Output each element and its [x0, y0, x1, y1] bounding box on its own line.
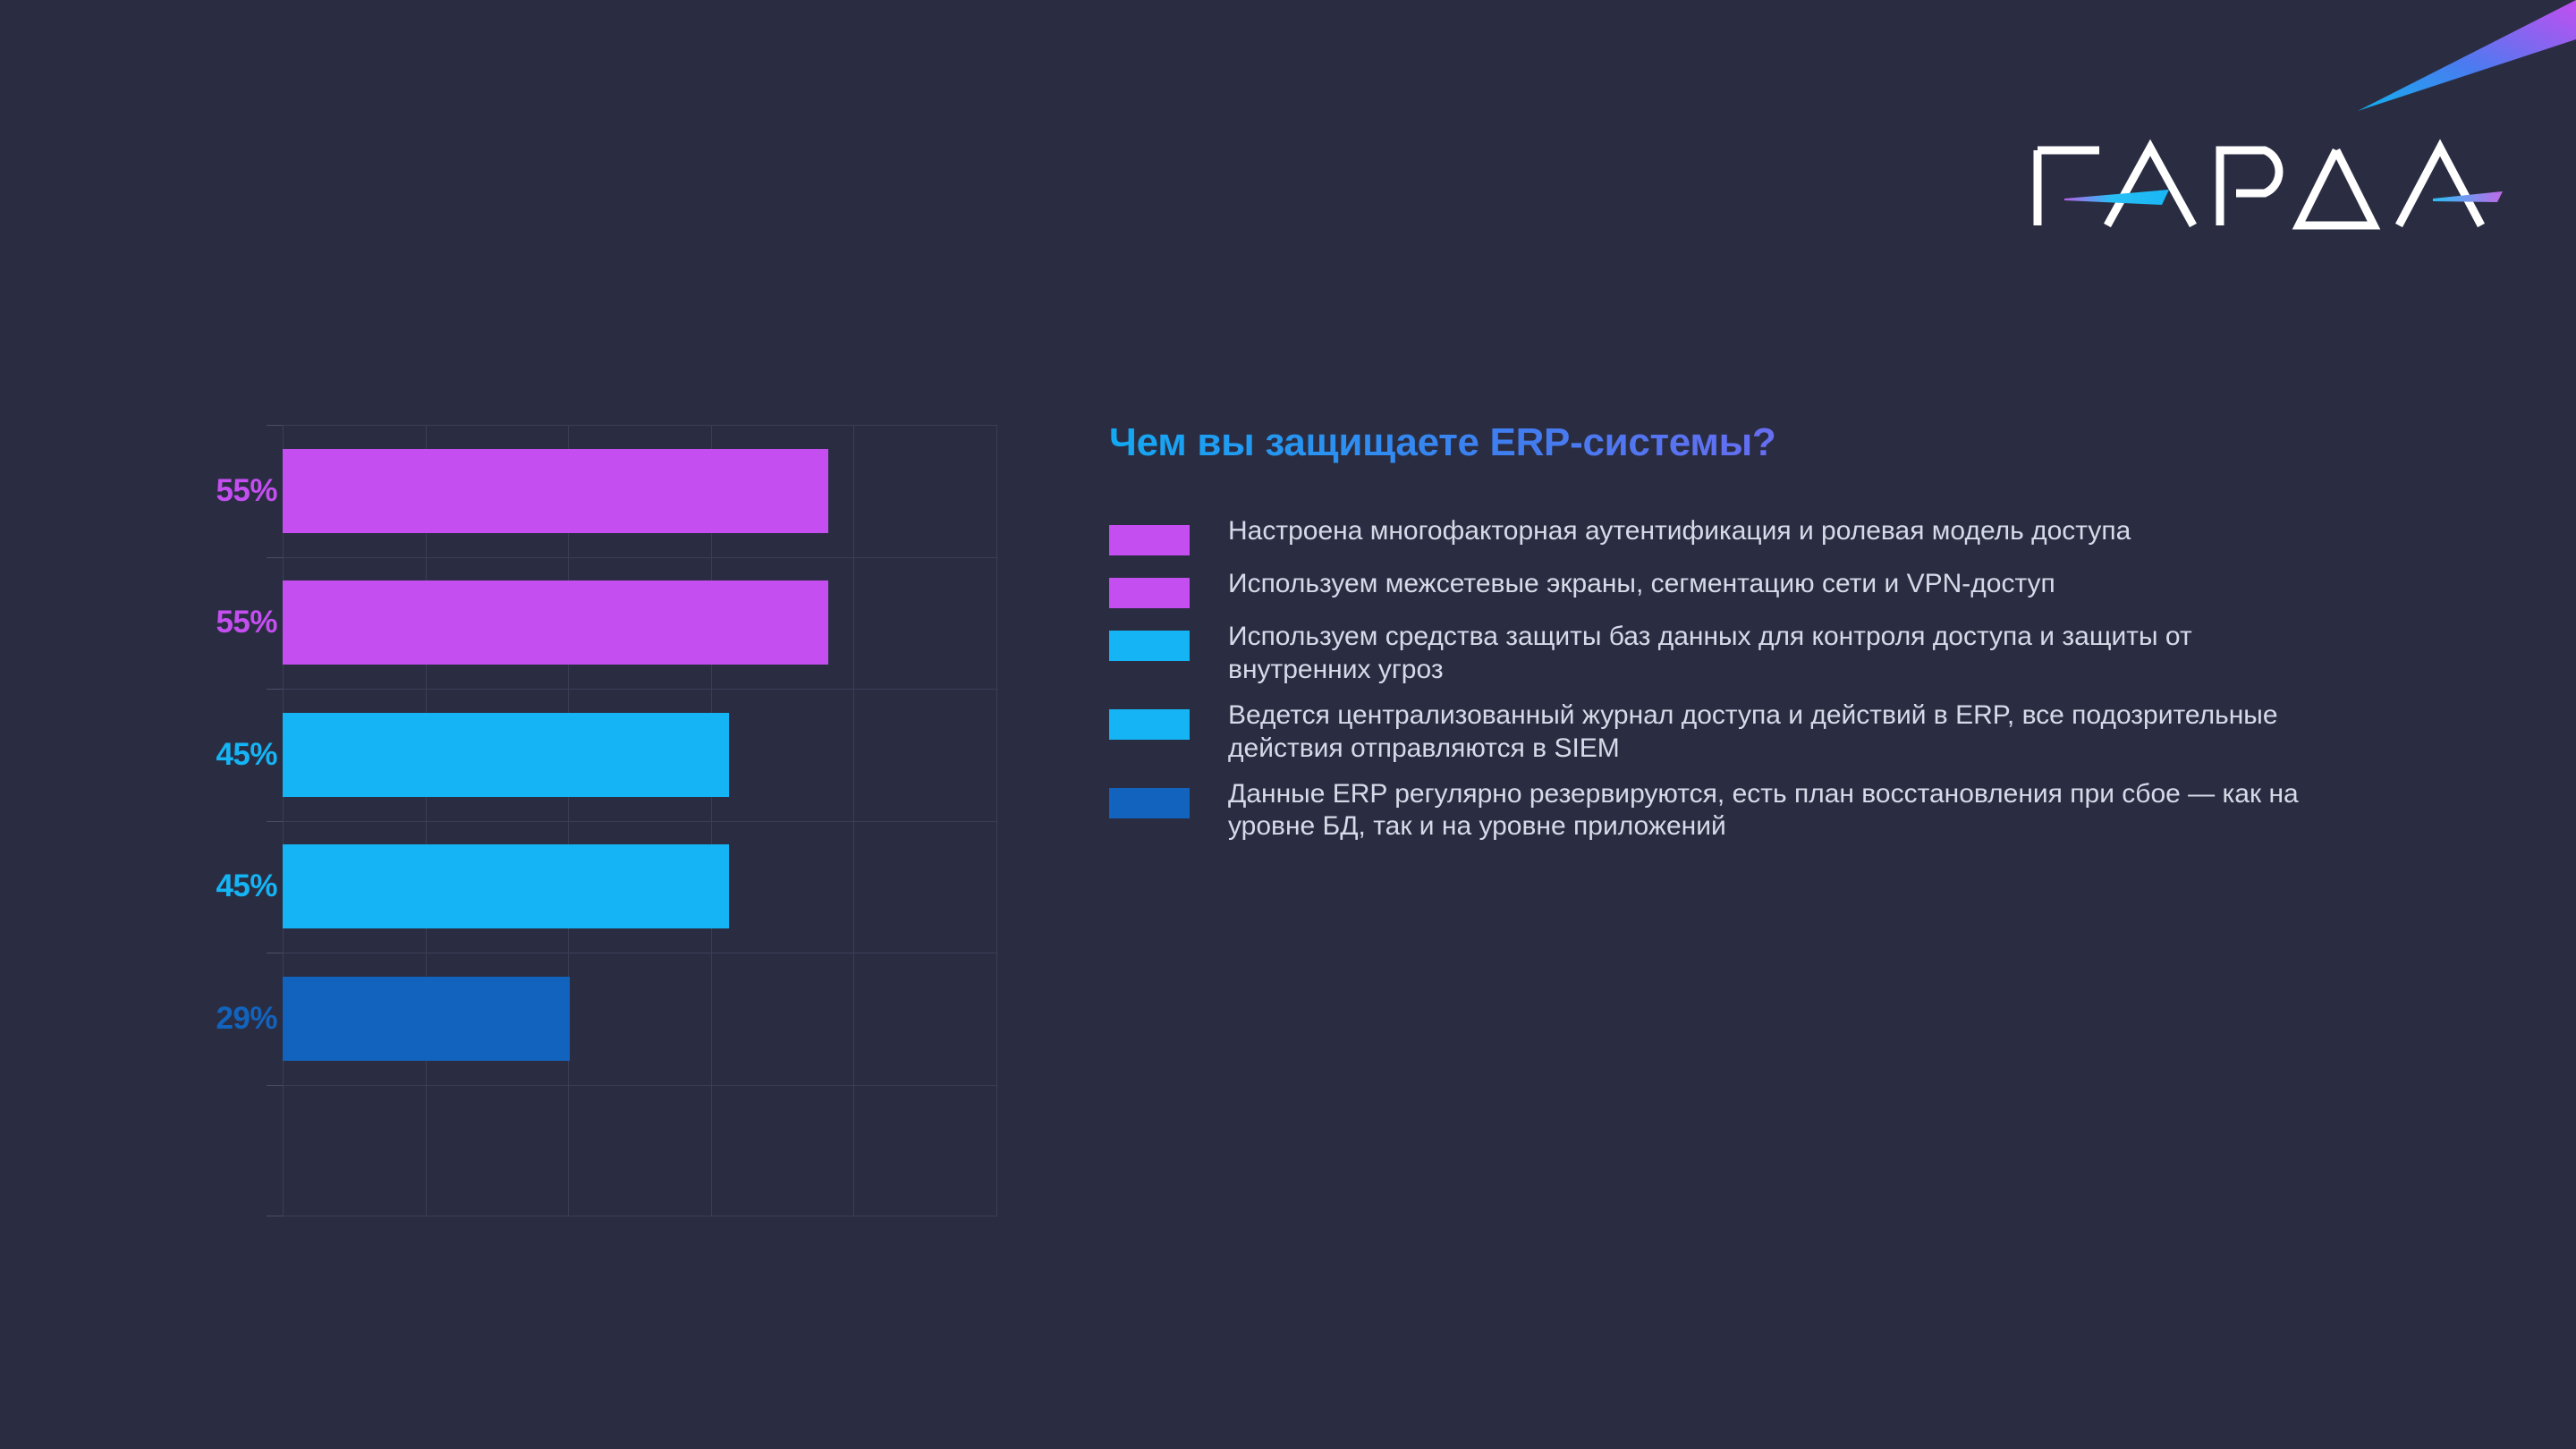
bar-chart: 55%55%45%45%29% [170, 407, 1029, 1257]
legend-item-label: Используем межсетевые экраны, сегментаци… [1228, 568, 2055, 601]
legend-color-swatch [1109, 788, 1190, 818]
bar-row: 29% [170, 977, 1029, 1061]
bar-rect[interactable] [283, 844, 729, 928]
bar-rect[interactable] [283, 713, 729, 797]
bar-row: 55% [170, 580, 1029, 665]
page-title: Чем вы защищаете ERP-системы? [1109, 420, 2415, 465]
legend-color-swatch [1109, 578, 1190, 608]
legend-item[interactable]: Настроена многофакторная аутентификация … [1109, 515, 2415, 555]
bar-value-label: 55% [170, 473, 277, 509]
bar-value-label: 45% [170, 737, 277, 773]
bar-row: 55% [170, 449, 1029, 533]
legend-item-label: Настроена многофакторная аутентификация … [1228, 515, 2131, 548]
legend-item[interactable]: Используем средства защиты баз данных дл… [1109, 621, 2415, 687]
bar-row: 45% [170, 844, 1029, 928]
bar-rect[interactable] [283, 977, 570, 1061]
legend-list: Настроена многофакторная аутентификация … [1109, 515, 2415, 856]
bar-value-label: 45% [170, 869, 277, 904]
legend-item-label: Используем средства защиты баз данных дл… [1228, 621, 2328, 687]
garda-wordmark [2038, 148, 2481, 225]
legend-item[interactable]: Используем межсетевые экраны, сегментаци… [1109, 568, 2415, 608]
bar-row: 45% [170, 713, 1029, 797]
legend-item[interactable]: Данные ERP регулярно резервируются, есть… [1109, 778, 2415, 844]
legend-color-swatch [1109, 525, 1190, 555]
legend-item-label: Данные ERP регулярно резервируются, есть… [1228, 778, 2328, 844]
bar-value-label: 55% [170, 605, 277, 640]
bar-rect[interactable] [283, 580, 828, 665]
bar-value-label: 29% [170, 1001, 277, 1037]
chart-legend-panel: Чем вы защищаете ERP-системы? Настроена … [1109, 420, 2415, 856]
bar-rect[interactable] [283, 449, 828, 533]
brand-logo [1950, 0, 2576, 250]
chart-bars: 55%55%45%45%29% [170, 407, 1029, 1257]
legend-color-swatch [1109, 631, 1190, 661]
logo-swoosh-icon [2064, 190, 2503, 205]
ribbon-icon [2358, 0, 2576, 111]
legend-color-swatch [1109, 709, 1190, 740]
slide-root: 55%55%45%45%29% Чем вы защищаете ERP-сис… [0, 0, 2576, 1449]
legend-item-label: Ведется централизованный журнал доступа … [1228, 699, 2328, 766]
legend-item[interactable]: Ведется централизованный журнал доступа … [1109, 699, 2415, 766]
